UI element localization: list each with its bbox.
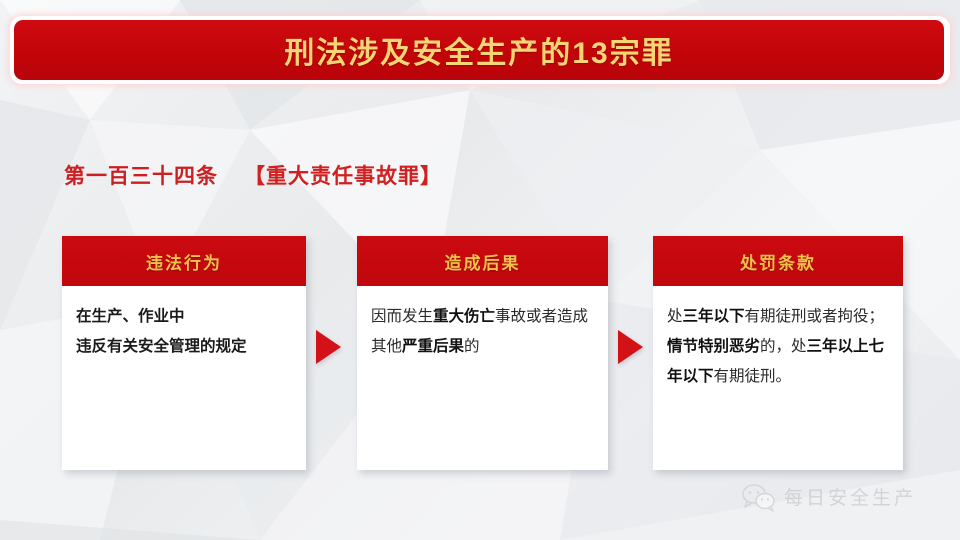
card-consequence-title: 造成后果 (445, 249, 521, 274)
wechat-icon (742, 484, 774, 510)
text-run: 有期徒刑或者拘役； (745, 308, 885, 325)
card-penalty: 处罚条款 处三年以下有期徒刑或者拘役；情节特别恶劣的，处三年以上七年以下有期徒刑… (653, 236, 903, 470)
footer-watermark: 每日安全生产 (742, 483, 916, 510)
card-penalty-header: 处罚条款 (653, 236, 903, 286)
text-run: 的，处 (760, 338, 807, 355)
card-violation-header: 违法行为 (62, 236, 306, 286)
card-consequence-header: 造成后果 (357, 236, 608, 286)
arrow-card2-to-card3-icon (618, 330, 643, 364)
card-violation-title: 违法行为 (146, 249, 222, 274)
card-violation-body: 在生产、作业中 违反有关安全管理的规定 (62, 286, 306, 372)
card-consequence-body: 因而发生重大伤亡事故或者造成其他严重后果的 (357, 286, 608, 372)
text-run: 三年以下 (683, 308, 745, 325)
card-violation-line-2: 违反有关安全管理的规定 (76, 332, 294, 362)
card-violation-line-1: 在生产、作业中 (76, 302, 294, 332)
text-run: 处 (667, 308, 683, 325)
page-title: 刑法涉及安全生产的13宗罪 (284, 28, 673, 72)
text-run: 有期徒刑。 (714, 368, 792, 385)
card-penalty-body: 处三年以下有期徒刑或者拘役；情节特别恶劣的，处三年以上七年以下有期徒刑。 (653, 286, 903, 402)
card-violation: 违法行为 在生产、作业中 违反有关安全管理的规定 (62, 236, 306, 470)
text-run: 严重后果 (402, 338, 464, 355)
card-penalty-title: 处罚条款 (740, 249, 816, 274)
wechat-account-name: 每日安全生产 (784, 483, 916, 510)
title-bar: 刑法涉及安全生产的13宗罪 (14, 20, 944, 80)
article-subtitle: 第一百三十四条【重大责任事故罪】 (64, 160, 442, 190)
text-run: 情节特别恶劣 (667, 338, 760, 355)
arrow-card1-to-card2-icon (316, 330, 341, 364)
article-number: 第一百三十四条 (64, 165, 218, 188)
text-run: 重大伤亡 (433, 308, 495, 325)
text-run: 的 (464, 338, 480, 355)
text-run: 因而发生 (371, 308, 433, 325)
slide-canvas: 刑法涉及安全生产的13宗罪 第一百三十四条【重大责任事故罪】 违法行为 在生产、… (0, 0, 960, 540)
card-consequence: 造成后果 因而发生重大伤亡事故或者造成其他严重后果的 (357, 236, 608, 470)
crime-name: 【重大责任事故罪】 (244, 165, 442, 188)
